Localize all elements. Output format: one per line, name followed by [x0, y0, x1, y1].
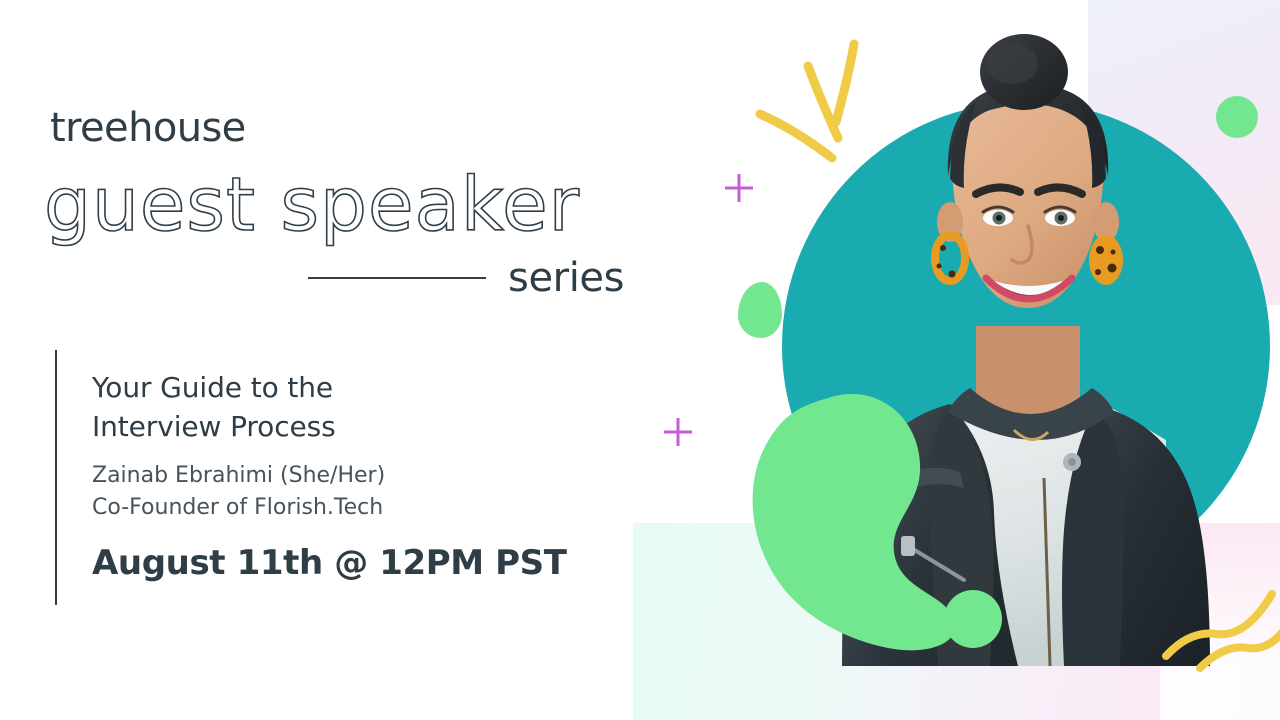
event-details: Your Guide to the Interview Process Zain…: [92, 368, 612, 582]
magenta-plus-icon-top: [725, 174, 753, 202]
promo-canvas: treehouse guest speaker series Your Guid…: [0, 0, 1280, 720]
talk-title: Your Guide to the Interview Process: [92, 368, 612, 446]
magenta-plus-icon-middle: [664, 418, 692, 446]
event-datetime: August 11th @ 12PM PST: [92, 545, 612, 582]
series-divider-rule: [308, 277, 486, 279]
green-circle-bottom: [944, 590, 1002, 648]
green-blob-small: [738, 282, 782, 338]
series-word: series: [508, 258, 624, 298]
info-vertical-rule: [55, 350, 57, 605]
yellow-sparkle-icon: [752, 38, 882, 168]
brand-wordmark: treehouse: [50, 108, 246, 148]
speaker-role: Co-Founder of Florish.Tech: [92, 492, 612, 523]
series-lockup: series: [308, 258, 624, 298]
yellow-wave-icon: [1164, 586, 1280, 706]
headline-outline: guest speaker: [44, 168, 580, 242]
speaker-name: Zainab Ebrahimi (She/Her): [92, 460, 612, 491]
